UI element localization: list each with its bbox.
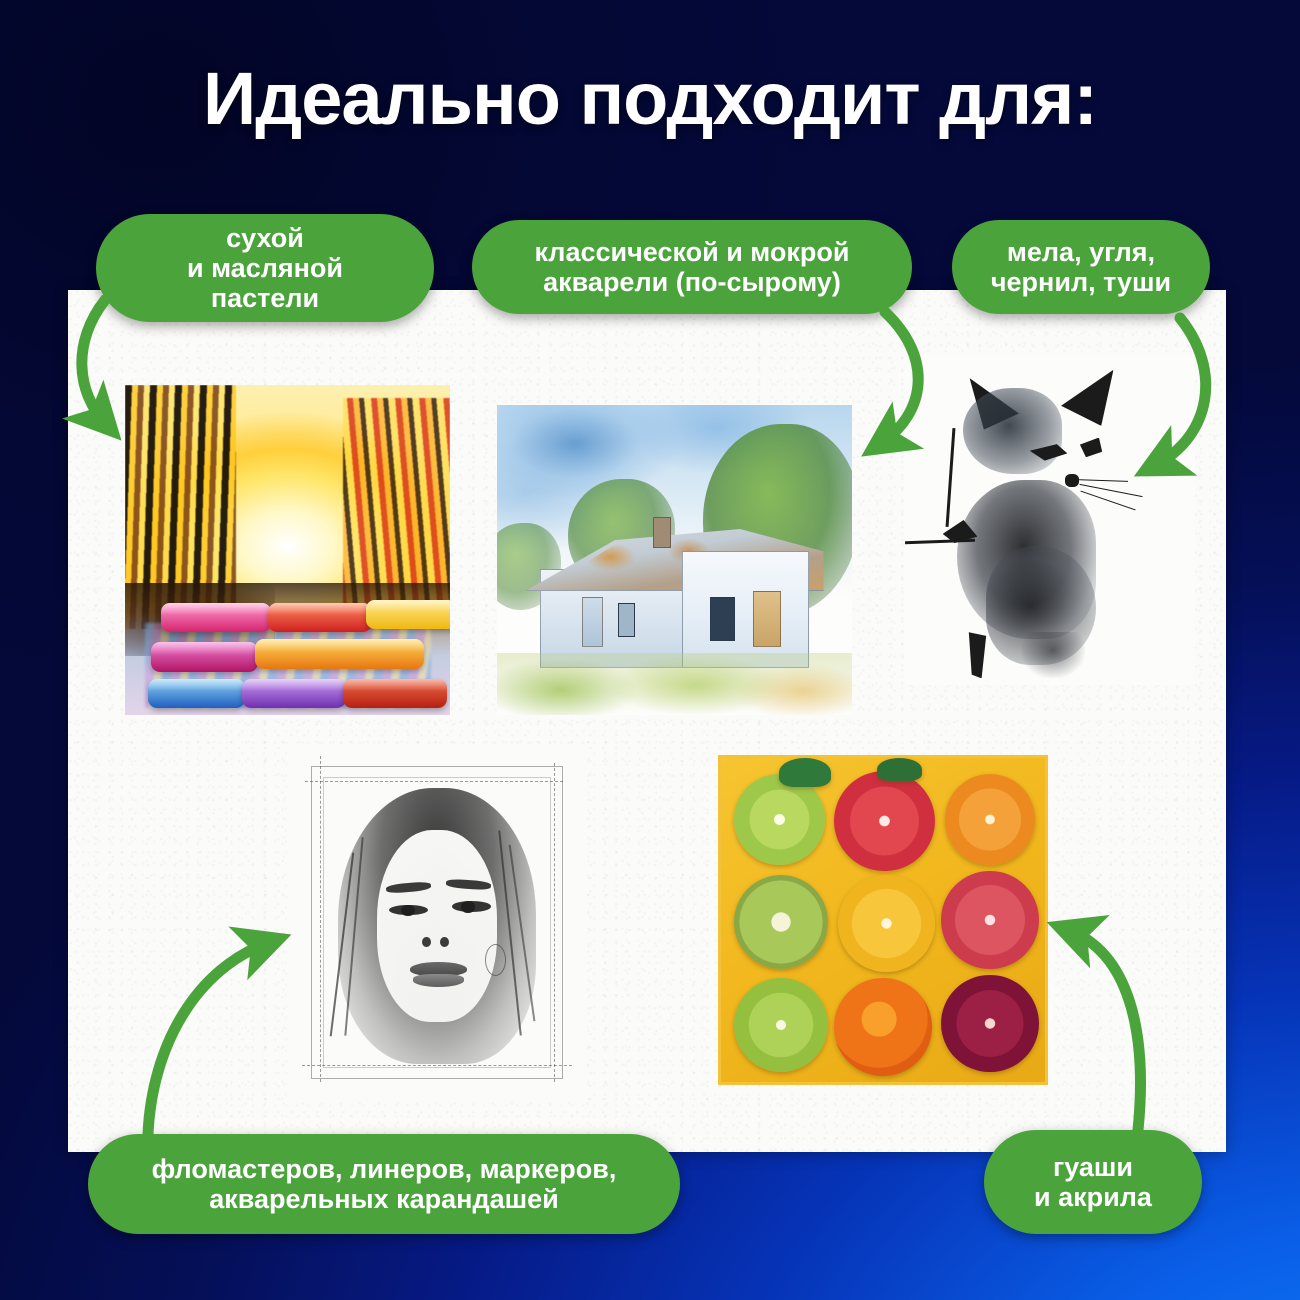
- badge-gouache[interactable]: гуаши и акрила: [984, 1130, 1202, 1234]
- artwork-watercolor-house: [497, 405, 852, 715]
- artwork-ink-cat: [905, 355, 1195, 685]
- badge-ink[interactable]: мела, угля, чернил, туши: [952, 220, 1210, 314]
- artwork-pastel-forest: [125, 385, 450, 715]
- artwork-citrus-painting: [718, 755, 1048, 1085]
- artwork-pencil-portrait: [287, 745, 587, 1100]
- badge-markers[interactable]: фломастеров, линеров, маркеров, акварель…: [88, 1134, 680, 1234]
- badge-watercolor[interactable]: классической и мокрой акварели (по-сыром…: [472, 220, 912, 314]
- page-title: Идеально подходит для:: [0, 62, 1300, 136]
- canvas-panel: [68, 290, 1226, 1152]
- badge-pastel[interactable]: сухой и масляной пастели: [96, 214, 434, 322]
